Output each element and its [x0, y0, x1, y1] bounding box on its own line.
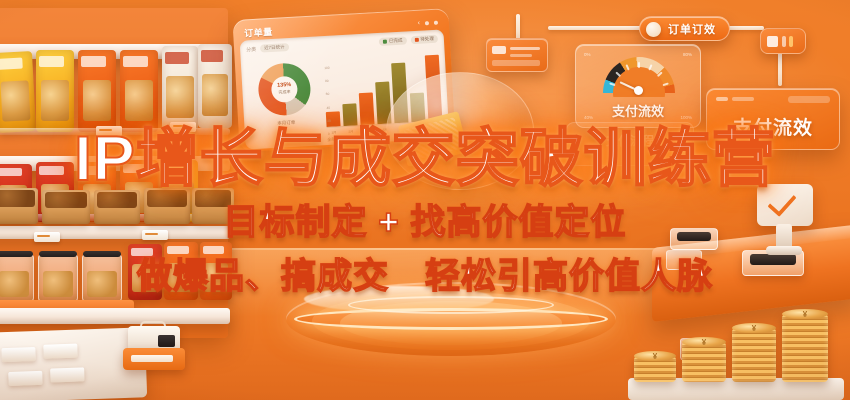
card-meta-right	[788, 96, 830, 103]
connector-wire	[548, 26, 644, 30]
bulk-crate	[94, 190, 140, 224]
podium-glow-ring-inner	[348, 296, 554, 314]
product-pack	[162, 46, 198, 130]
badge-label: 订单订效	[668, 21, 716, 37]
range-chip[interactable]: 近7日统计	[260, 43, 289, 53]
node-bar-icon	[782, 36, 786, 47]
node-bar-highlight-icon	[789, 36, 793, 47]
x-tick: 3月	[361, 127, 375, 133]
device-base	[123, 348, 185, 370]
price-tag	[170, 122, 196, 132]
node-square-icon	[767, 36, 778, 47]
donut-chart: 135% 完成率 本月订单	[247, 52, 324, 140]
coin-stacks: ¥ ¥ ¥ ¥	[628, 300, 844, 400]
price-tag	[142, 230, 168, 240]
bulk-jar	[82, 254, 122, 302]
node-line	[492, 60, 540, 66]
retail-shelf-unit	[0, 8, 228, 338]
product-pack	[164, 242, 198, 300]
card-meta-mid	[732, 97, 754, 101]
footer-right-label: 总额统计	[351, 135, 367, 142]
bulk-crate	[0, 188, 38, 224]
product-pack	[200, 242, 232, 300]
product-pack	[78, 50, 116, 132]
bulk-crate	[192, 188, 234, 224]
product-pack	[198, 44, 232, 128]
bulk-jar	[38, 254, 78, 302]
badge-dot-icon	[646, 22, 661, 37]
x-tick: 2月	[344, 128, 358, 134]
pos-foot	[766, 246, 802, 255]
counter-cube	[666, 250, 702, 270]
connector-wire	[778, 52, 782, 86]
node-thumb-icon	[492, 46, 506, 54]
legend-green: 已完成	[379, 36, 407, 46]
bulk-crate	[144, 188, 190, 224]
y-tick: 40	[326, 105, 332, 109]
background-ghost-card: 支付流程	[566, 122, 694, 166]
x-tick: 1月	[327, 129, 341, 135]
gauge-corner-label: 0%	[584, 52, 591, 57]
price-tag	[96, 126, 122, 136]
card-reader[interactable]	[670, 228, 718, 250]
data-node-small[interactable]	[760, 28, 806, 54]
label-printer-device[interactable]	[123, 326, 185, 370]
y-tick: 80	[325, 79, 331, 83]
coin-stack: ¥	[782, 314, 828, 382]
product-pack	[128, 244, 162, 300]
y-tick: 20	[327, 118, 333, 122]
footer-left-label: 全部渠道	[327, 136, 343, 143]
pos-confirm-screen[interactable]	[757, 184, 813, 226]
coin-stack: ¥	[634, 356, 676, 382]
shelf-board-base	[0, 308, 230, 324]
coin-symbol: ¥	[752, 324, 756, 333]
menu-dot-icon[interactable]	[425, 21, 429, 25]
gauge-hub	[634, 86, 643, 95]
display-podium	[286, 282, 616, 368]
promo-banner: 订单量 ‹ 分类 近7日统计 已完成 待处理 135% 完成率 本月订单	[0, 0, 850, 400]
coin-symbol: ¥	[653, 352, 657, 361]
y-tick: 100	[324, 66, 330, 70]
product-pack	[36, 50, 74, 132]
legend-left-label: 分类	[246, 45, 256, 53]
coin-symbol: ¥	[702, 338, 706, 347]
coin-stack: ¥	[682, 342, 726, 382]
gauge-card-title: 支付流效	[576, 101, 700, 120]
coin-symbol: ¥	[803, 310, 807, 319]
menu-dot-icon[interactable]	[434, 20, 438, 24]
connector-wire	[724, 26, 764, 30]
payment-gauge-card[interactable]: 0% 80% 40% 100% 支付流效	[575, 44, 701, 128]
tablet-title: 订单量	[244, 25, 273, 40]
donut-caption: 本月订单	[250, 118, 322, 128]
y-tick: 60	[326, 92, 332, 96]
price-tag	[34, 232, 60, 242]
gauge-chart	[603, 57, 675, 97]
card-meta-left	[716, 97, 728, 101]
bulk-jar	[0, 254, 34, 302]
product-pack	[120, 50, 158, 132]
coin-stack: ¥	[732, 328, 776, 382]
gauge-corner-label: 80%	[683, 52, 692, 57]
bar	[359, 92, 375, 125]
bar	[342, 104, 357, 126]
order-efficiency-badge[interactable]: 订单订效	[639, 16, 730, 41]
node-line	[510, 54, 532, 57]
node-line	[510, 47, 540, 50]
bulk-crate	[42, 190, 90, 224]
product-pack	[0, 51, 36, 133]
chevron-left-icon[interactable]: ‹	[417, 20, 420, 27]
payment-flow-card-title: 支付流效	[707, 113, 839, 140]
ghost-card-title: 支付流程	[567, 132, 693, 149]
legend-orange: 待处理	[410, 35, 438, 45]
data-node-card[interactable]	[486, 38, 548, 72]
payment-flow-card[interactable]: 支付流效	[706, 88, 840, 150]
